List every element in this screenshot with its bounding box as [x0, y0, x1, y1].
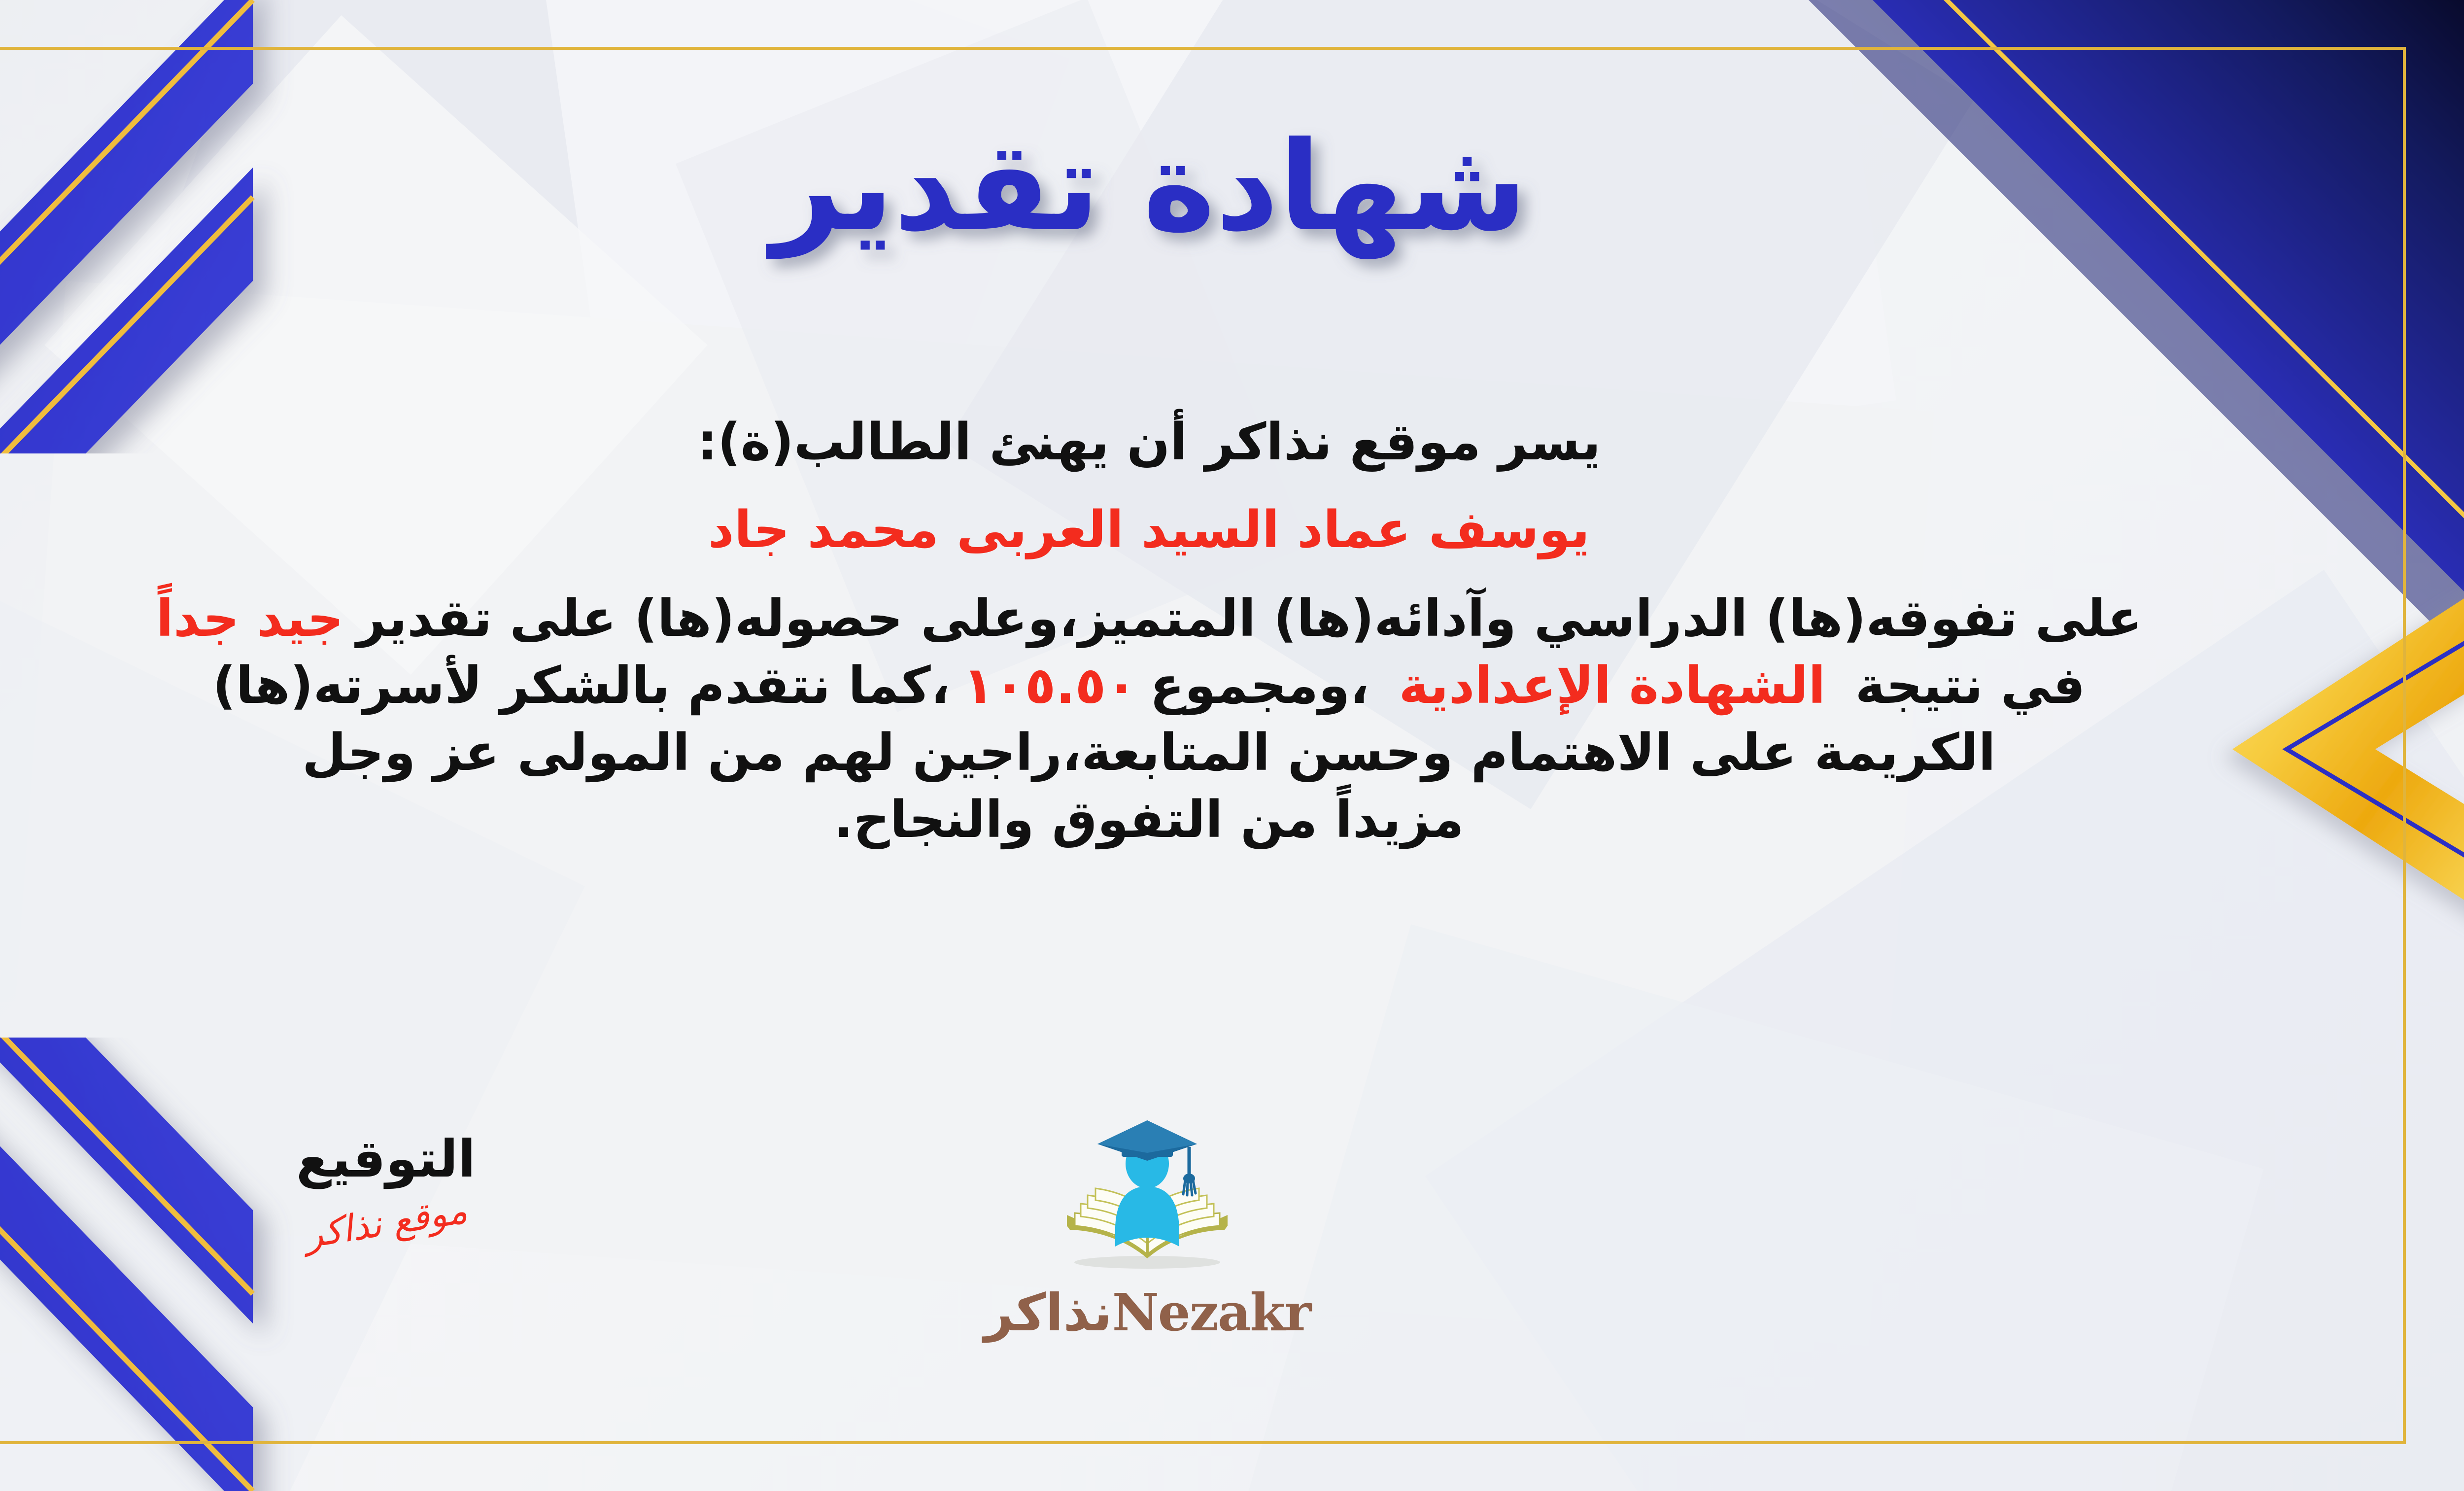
logo-name-en: Nezakr [1112, 1282, 1311, 1343]
wishes-line: مزيداً من التفوق والنجاح. [0, 787, 2301, 854]
student-name: يوسف عماد السيد العربى محمد جاد [0, 497, 2301, 564]
total-label: ،ومجموع [1150, 656, 1369, 715]
achievement-line: على تفوقه(ها) الدراسي وآدائه(ها) المتميز… [0, 586, 2301, 653]
signature-label: التوقيع [213, 1129, 558, 1189]
grade-value: جيد جداً [156, 589, 344, 648]
total-score: ١٠٥.٥٠ [963, 656, 1137, 715]
thanks-text: ،كما نتقدم بالشكر لأسرته(ها) [212, 656, 950, 715]
corner-decoration-bottom-left [0, 1038, 420, 1491]
site-logo: نذاكرNezakr [930, 1116, 1364, 1343]
title-calligraphy: شهادة تقدير [681, 67, 1617, 283]
exam-prefix: في نتيجة [1855, 656, 2086, 715]
exam-name: الشهادة الإعدادية [1399, 656, 1825, 715]
certificate-page: شهادة تقدير يسر موقع نذاكر أن يهنئ الطال… [0, 0, 2464, 1491]
title-text: شهادة تقدير [765, 115, 1527, 260]
intro-line: يسر موقع نذاكر أن يهنئ الطالب(ة): [0, 409, 2301, 476]
graduate-open-book-icon [1041, 1116, 1253, 1279]
family-line: الكريمة على الاهتمام وحسن المتابعة،راجين… [0, 720, 2301, 787]
exam-line: في نتيجةالشهادة الإعدادية،ومجموع١٠٥.٥٠،ك… [0, 653, 2301, 720]
certificate-title: شهادة تقدير [0, 67, 2464, 285]
signature-block: التوقيع موقع نذاكر [213, 1129, 558, 1244]
logo-name-ar: نذاكر [984, 1283, 1112, 1343]
logo-wordmark: نذاكرNezakr [930, 1282, 1364, 1343]
achievement-text: على تفوقه(ها) الدراسي وآدائه(ها) المتميز… [356, 589, 2142, 648]
certificate-body: يسر موقع نذاكر أن يهنئ الطالب(ة): يوسف ع… [0, 409, 2301, 854]
